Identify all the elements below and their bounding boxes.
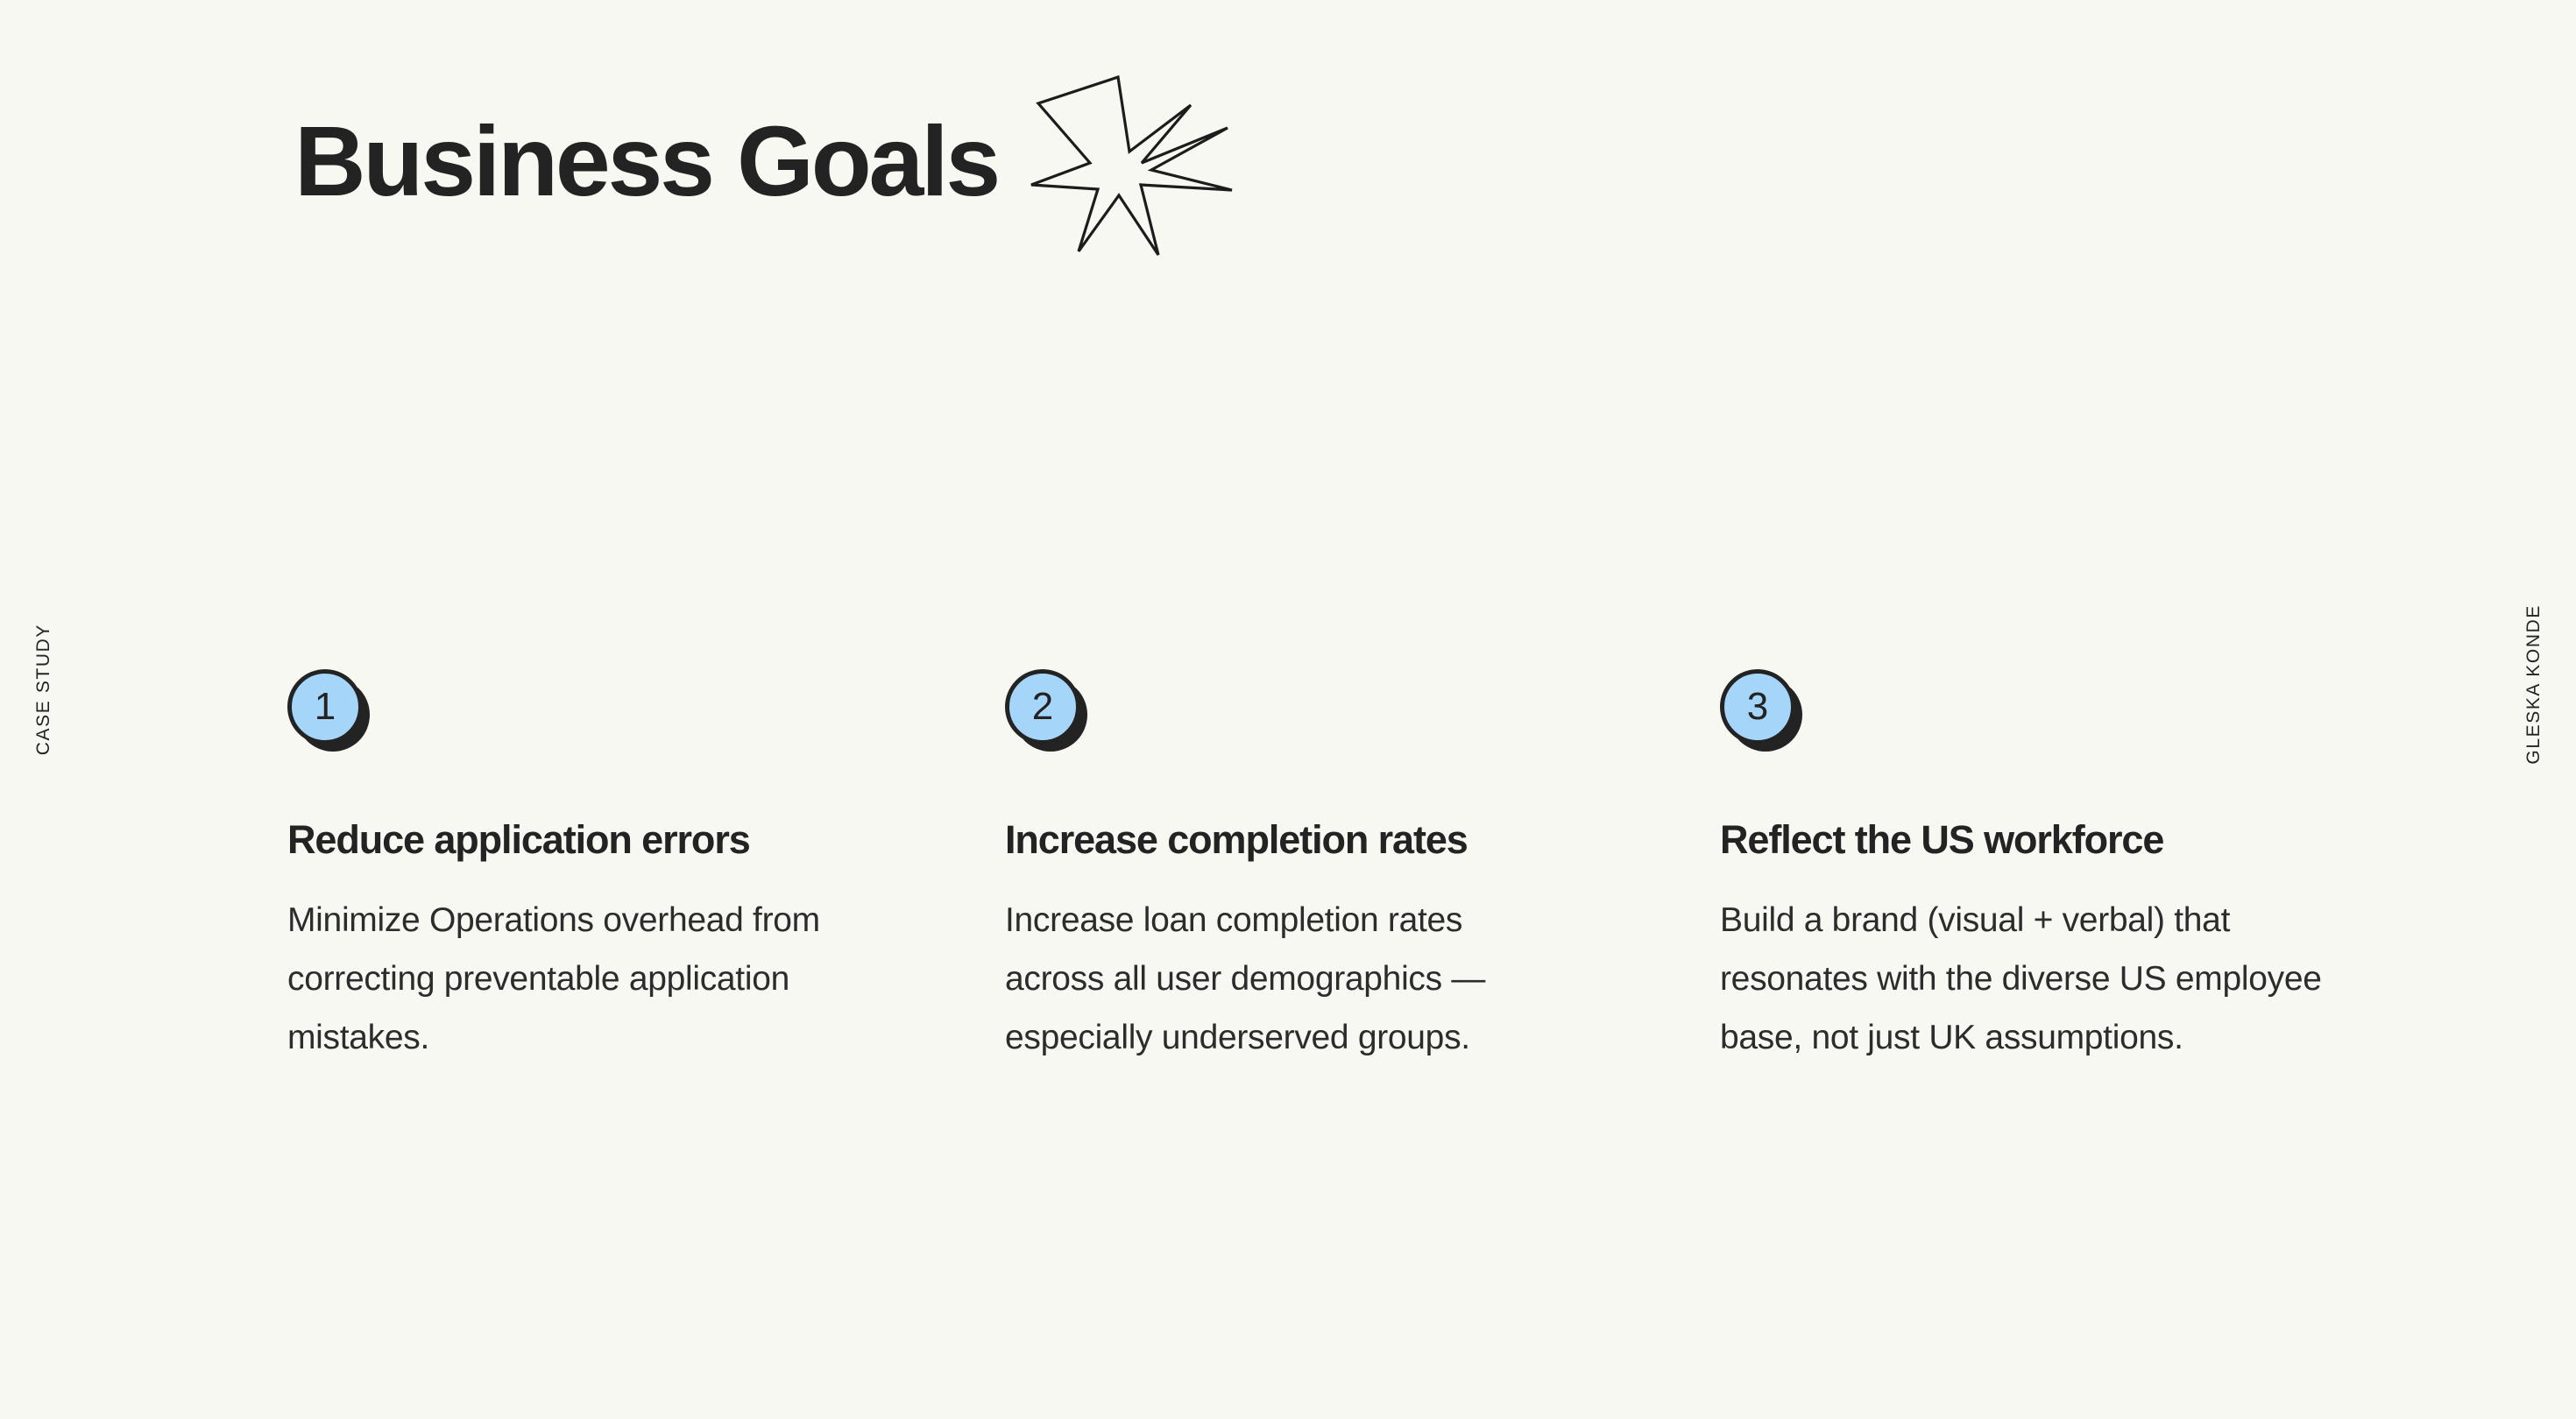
badge-number-label: 1 <box>287 669 363 745</box>
sparkle-star-icon <box>998 105 1238 275</box>
goal-heading-1: Reduce application errors <box>287 811 831 870</box>
goal-heading-2: Increase completion rates <box>1005 811 1548 870</box>
goal-number-badge-3: 3 <box>1720 669 1808 757</box>
goal-item-2: 2 Increase completion rates Increase loa… <box>1005 669 1583 1067</box>
badge-number-label: 2 <box>1005 669 1080 745</box>
goal-body-2: Increase loan completion rates across al… <box>1005 891 1557 1067</box>
page-title: Business Goals <box>294 105 998 219</box>
goal-item-1: 1 Reduce application errors Minimize Ope… <box>287 669 866 1067</box>
goals-list: 1 Reduce application errors Minimize Ope… <box>0 669 2576 1195</box>
goal-number-badge-2: 2 <box>1005 669 1093 757</box>
goal-body-3: Build a brand (visual + verbal) that res… <box>1720 891 2333 1067</box>
goal-number-badge-1: 1 <box>287 669 375 757</box>
title-row: Business Goals <box>294 105 1238 275</box>
goal-heading-3: Reflect the US workforce <box>1720 811 2333 870</box>
goal-body-1: Minimize Operations overhead from correc… <box>287 891 839 1067</box>
badge-number-label: 3 <box>1720 669 1795 745</box>
goal-item-3: 3 Reflect the US workforce Build a brand… <box>1720 669 2298 1067</box>
slide-canvas: Business Goals CASE STUDY GLESKA KONDE 1… <box>0 0 2576 1419</box>
